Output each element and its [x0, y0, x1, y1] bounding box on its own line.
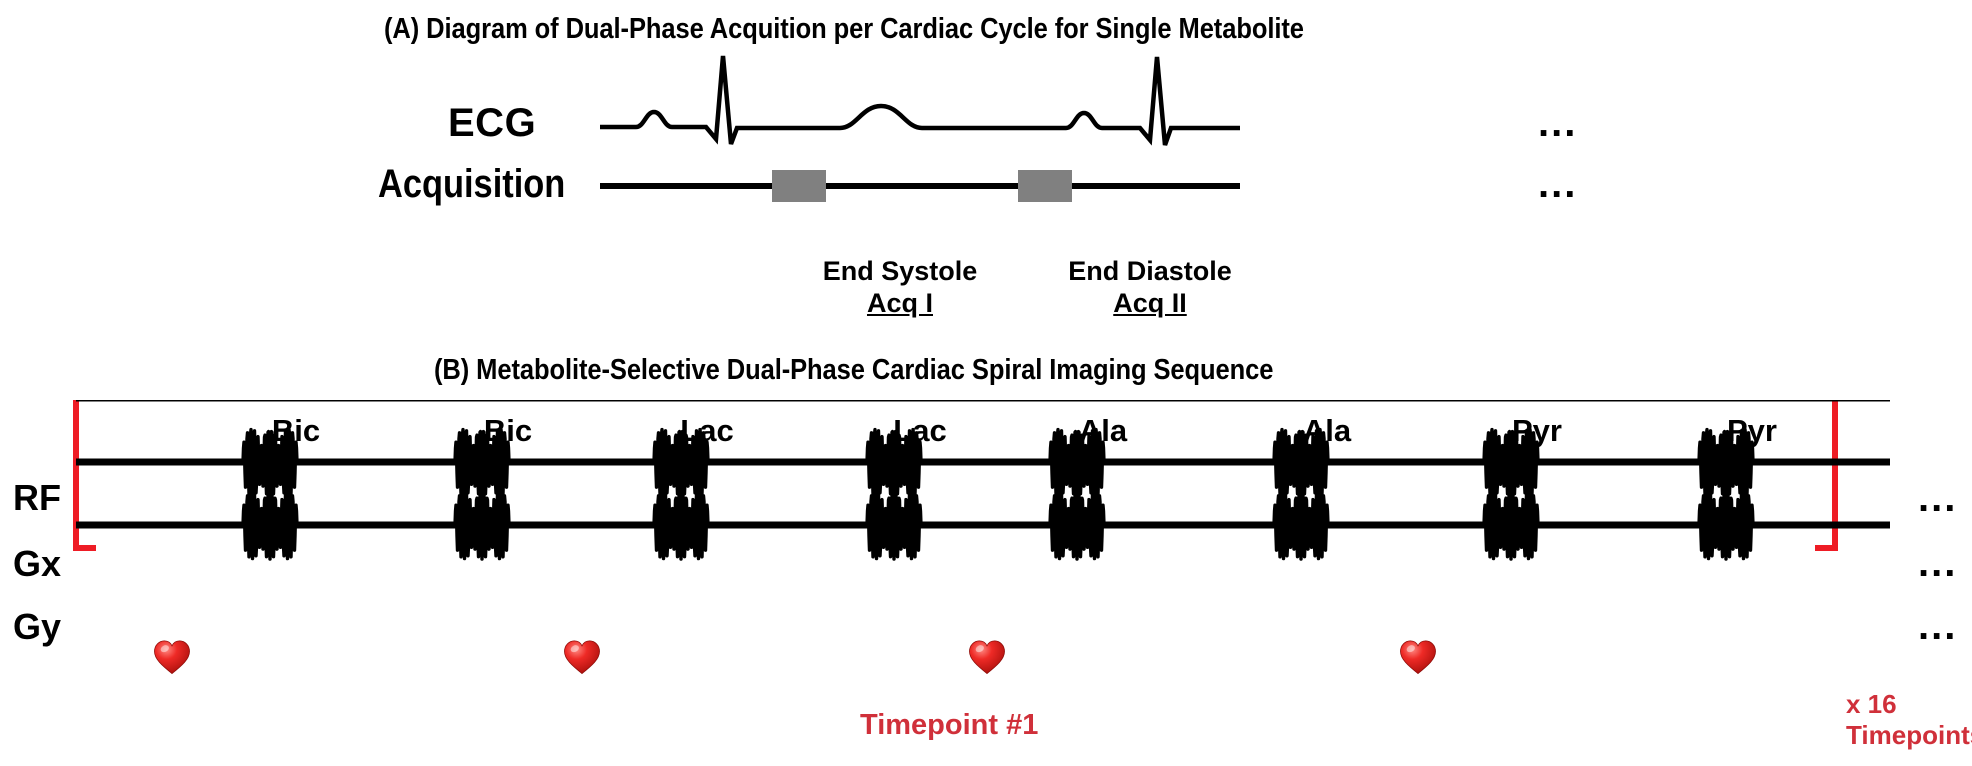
gy-spiral-gradient-burst [1274, 493, 1328, 559]
axis-label-acquisition: Acquisition [378, 164, 565, 204]
acquisition-continuation-ellipsis: ... [1538, 164, 1577, 204]
axis-label-ecg: ECG [448, 103, 536, 143]
repeat-count-unit: Timepoints [1846, 720, 1972, 751]
gy-spiral-gradient-burst [1699, 493, 1753, 559]
metabolite-label-pyr-8: Pyr [1707, 415, 1797, 446]
acq-window-caption-systole: End Systole Acq I [800, 256, 1000, 320]
heart-icon-glyph [968, 639, 1006, 675]
gy-spiral-gradient-burst [1484, 493, 1538, 559]
gy-spiral-gradient-burst [867, 493, 921, 559]
metabolite-label-ala-6: Ala [1282, 415, 1372, 446]
timepoint-annotation: Timepoint #1 [860, 708, 1038, 742]
acq-window-caption-diastole: End Diastole Acq II [1050, 256, 1250, 320]
ecg-continuation-ellipsis: ... [1538, 103, 1577, 143]
acq-id-label: Acq I [800, 288, 1000, 320]
metabolite-label-lac-3: Lac [662, 415, 752, 446]
acq-phase-label: End Diastole [1050, 256, 1250, 288]
metabolite-label-ala-5: Ala [1058, 415, 1148, 446]
ecg-trace [600, 56, 1240, 145]
acquisition-window-block-systole [772, 170, 826, 202]
sequence-baselines [76, 400, 1890, 525]
panel-a-waveforms [600, 40, 1320, 210]
heart-icon [1399, 639, 1437, 675]
acq-phase-label: End Systole [800, 256, 1000, 288]
heart-icon-glyph [153, 639, 191, 675]
ecg-trace-group [600, 56, 1240, 145]
heart-icon [153, 639, 191, 675]
metabolite-label-lac-4: Lac [875, 415, 965, 446]
acquisition-trace-group [600, 170, 1240, 202]
panel-b-title: (B) Metabolite-Selective Dual-Phase Card… [434, 354, 1273, 387]
gy-spiral-gradient-burst [455, 493, 509, 559]
heart-icon-glyph [1399, 639, 1437, 675]
heart-icon-glyph [563, 639, 601, 675]
metabolite-label-bic-2: Bic [463, 415, 553, 446]
acquisition-window-block-diastole [1018, 170, 1072, 202]
repeat-count-annotation: x 16 Timepoints [1846, 689, 1972, 750]
acq-id-label: Acq II [1050, 288, 1250, 320]
figure-root: (A) Diagram of Dual-Phase Acquition per … [0, 0, 1972, 766]
metabolite-label-bic-1: Bic [251, 415, 341, 446]
metabolite-label-pyr-7: Pyr [1492, 415, 1582, 446]
gy-spiral-gradient-burst [1050, 493, 1104, 559]
heart-icon [968, 639, 1006, 675]
repeat-count-value: x 16 [1846, 689, 1972, 720]
heart-icon [563, 639, 601, 675]
gy-spiral-gradient-burst [654, 493, 708, 559]
gy-spiral-gradient-burst [243, 493, 297, 559]
